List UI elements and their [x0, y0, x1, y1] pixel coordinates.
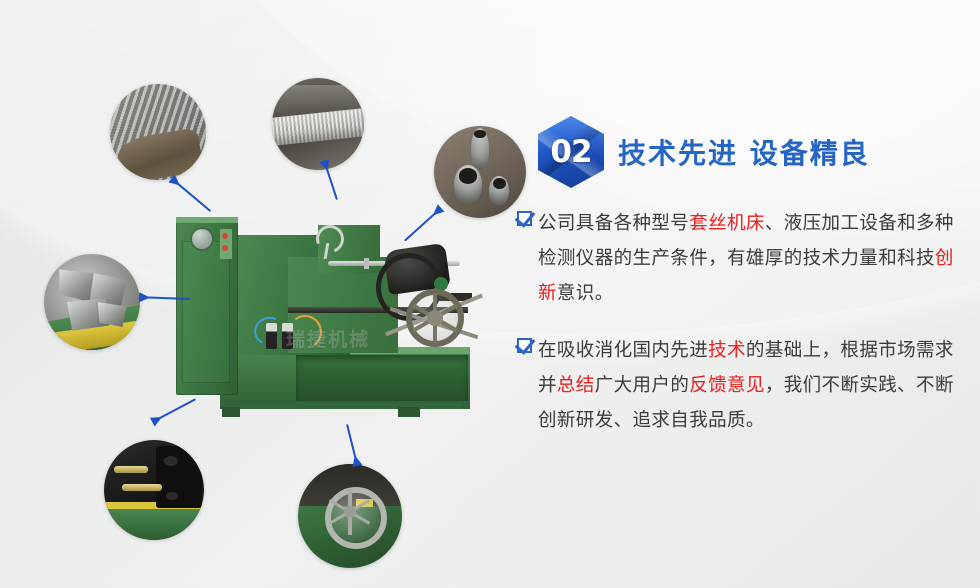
machine-handwheel — [406, 289, 464, 347]
detail-bubble-threaded-rod-macro — [110, 84, 206, 180]
product-machine-photo: 瑞捷机械 — [168, 195, 498, 425]
checkbox-checked-icon — [517, 338, 534, 355]
highlighted-text: 总结 — [557, 375, 595, 396]
highlighted-text: 技术 — [708, 340, 746, 361]
detail-bubble-hydraulic-fittings — [104, 440, 204, 540]
bullet-list: 公司具备各种型号套丝机床、液压加工设备和多种检测仪器的生产条件，有雄厚的技术力量… — [517, 206, 972, 460]
body-text: 广大用户的 — [595, 375, 690, 396]
section-title: 技术先进 设备精良 — [618, 132, 870, 172]
highlighted-text: 套丝机床 — [689, 213, 765, 234]
detail-bubble-die-head-chuck — [44, 254, 140, 350]
product-photo-composition: 瑞捷机械 — [0, 0, 520, 588]
badge-number: 02 — [538, 116, 604, 188]
machine-gauge-icon — [190, 227, 214, 251]
bullet-text: 在吸收消化国内先进技术的基础上，根据市场需求并总结广大用户的反馈意见，我们不断实… — [538, 333, 972, 438]
section-header: 02 技术先进 设备精良 — [538, 116, 870, 188]
promo-banner: 瑞捷机械 — [0, 0, 980, 588]
image-watermark: 瑞捷机械 — [286, 325, 406, 351]
checkbox-checked-icon — [517, 211, 534, 228]
body-text: 公司具备各种型号 — [538, 213, 689, 234]
content-column: 02 技术先进 设备精良 公司具备各种型号套丝机床、液压加工设备和多种检测仪器的… — [505, 0, 980, 588]
bullet-item: 在吸收消化国内先进技术的基础上，根据市场需求并总结广大用户的反馈意见，我们不断实… — [517, 333, 972, 438]
detail-bubble-handwheel — [298, 464, 402, 568]
hexagon-badge: 02 — [538, 116, 604, 188]
detail-bubble-threaded-bar — [272, 78, 364, 170]
highlighted-text: 反馈意见 — [689, 375, 765, 396]
body-text: 意识。 — [557, 283, 614, 304]
body-text: 在吸收消化国内先进 — [538, 340, 708, 361]
bullet-item: 公司具备各种型号套丝机床、液压加工设备和多种检测仪器的生产条件，有雄厚的技术力量… — [517, 206, 972, 311]
bullet-text: 公司具备各种型号套丝机床、液压加工设备和多种检测仪器的生产条件，有雄厚的技术力量… — [538, 206, 972, 311]
